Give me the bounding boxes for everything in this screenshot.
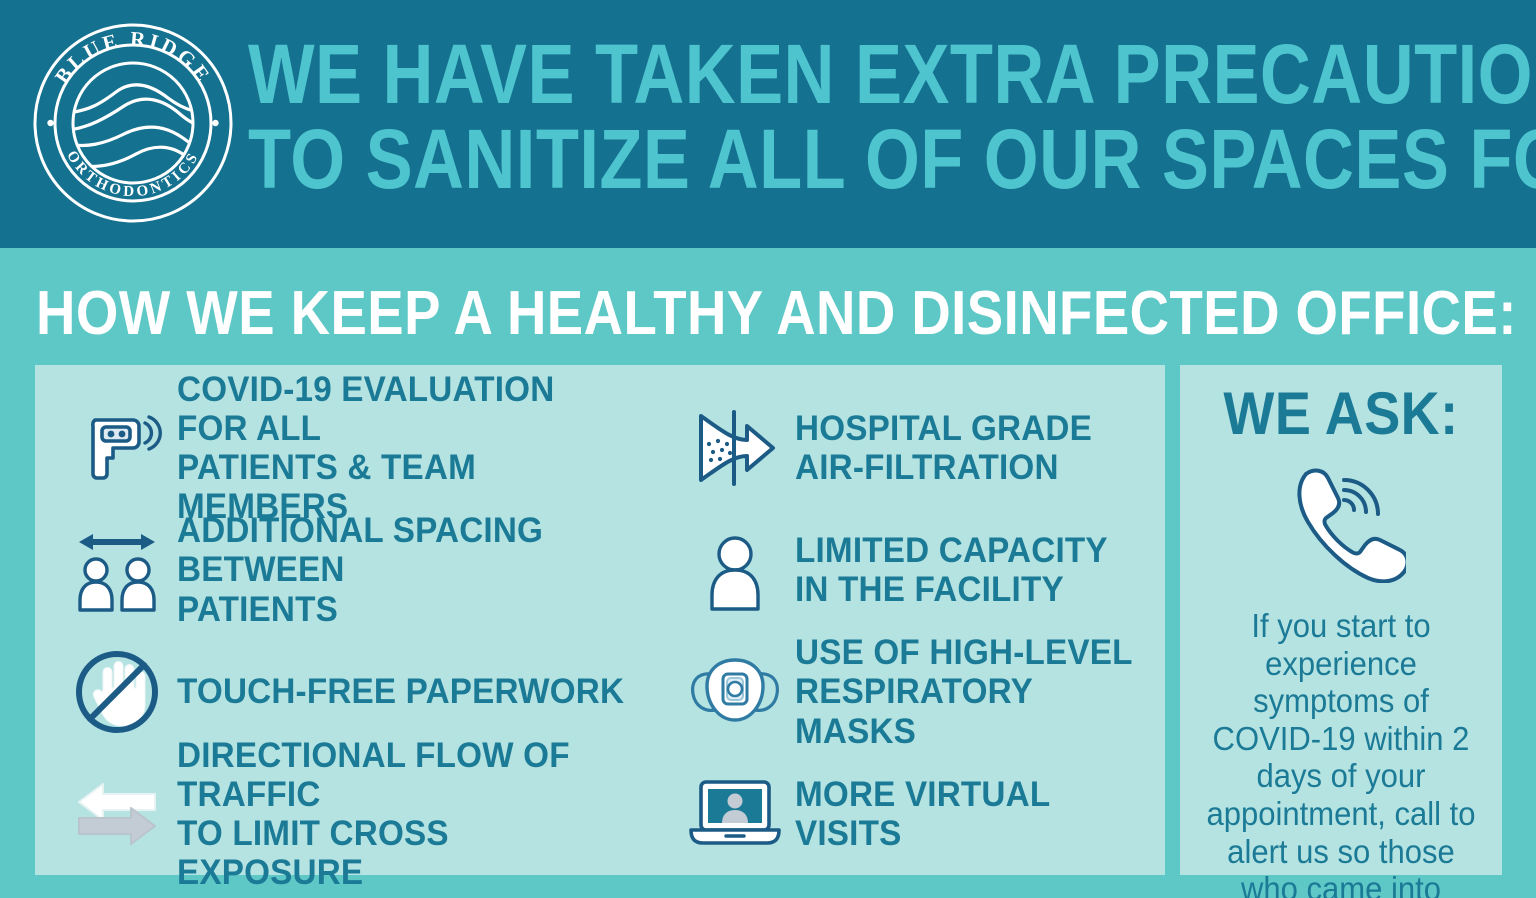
precautions-column-right: HOSPITAL GRADE AIR-FILTRATION LIMITED CA… — [675, 389, 1155, 877]
header-line-1: WE HAVE TAKEN EXTRA PRECAUTIONS — [248, 36, 1311, 113]
list-item: MORE VIRTUAL VISITS — [675, 755, 1155, 873]
header-line-2: TO SANITIZE ALL OF OUR SPACES FOR YOU. — [248, 121, 1311, 198]
section-title: HOW WE KEEP A HEALTHY AND DISINFECTED OF… — [36, 278, 1517, 349]
directional-arrows-icon — [57, 766, 177, 862]
list-item: HOSPITAL GRADE AIR-FILTRATION — [675, 389, 1155, 507]
respirator-mask-icon — [675, 646, 795, 738]
list-item-label: COVID-19 EVALUATION FOR ALL PATIENTS & T… — [177, 370, 633, 527]
list-item-label: TOUCH-FREE PAPERWORK — [177, 672, 624, 711]
list-item: USE OF HIGH-LEVEL RESPIRATORY MASKS — [675, 633, 1155, 751]
list-item: ADDITIONAL SPACING BETWEEN PATIENTS — [57, 511, 657, 629]
laptop-video-call-icon — [675, 768, 795, 860]
list-item: TOUCH-FREE PAPERWORK — [57, 633, 657, 751]
header-text-block: WE HAVE TAKEN EXTRA PRECAUTIONS TO SANIT… — [248, 36, 1513, 199]
brand-logo: BLUE RIDGE ORTHODONTICS — [28, 18, 238, 228]
list-item-label: HOSPITAL GRADE AIR-FILTRATION — [795, 409, 1092, 487]
social-distancing-icon — [57, 522, 177, 618]
precautions-card: COVID-19 EVALUATION FOR ALL PATIENTS & T… — [35, 365, 1165, 875]
we-ask-title: WE ASK: — [1196, 379, 1486, 448]
list-item-label: MORE VIRTUAL VISITS — [795, 775, 1137, 853]
list-item: DIRECTIONAL FLOW OF TRAFFIC TO LIMIT CRO… — [57, 755, 657, 873]
precautions-column-left: COVID-19 EVALUATION FOR ALL PATIENTS & T… — [57, 389, 657, 877]
blue-ridge-orthodontics-logo-icon: BLUE RIDGE ORTHODONTICS — [28, 18, 238, 228]
logo-top-text: BLUE RIDGE — [50, 27, 216, 89]
we-ask-body-text: If you start to experience symptoms of C… — [1190, 607, 1493, 898]
list-item-label: LIMITED CAPACITY IN THE FACILITY — [795, 531, 1108, 609]
list-item-label: USE OF HIGH-LEVEL RESPIRATORY MASKS — [795, 633, 1137, 751]
infographic-poster: BLUE RIDGE ORTHODONTICS WE HAVE TAKEN EX… — [0, 0, 1536, 898]
phone-ringing-icon — [1180, 458, 1502, 583]
list-item-label: ADDITIONAL SPACING BETWEEN PATIENTS — [177, 511, 633, 629]
header-banner: BLUE RIDGE ORTHODONTICS WE HAVE TAKEN EX… — [0, 0, 1536, 248]
we-ask-panel: WE ASK: If you start to experience sympt… — [1180, 365, 1502, 875]
air-filter-icon — [675, 400, 795, 496]
list-item: LIMITED CAPACITY IN THE FACILITY — [675, 511, 1155, 629]
single-person-icon — [675, 522, 795, 618]
list-item: COVID-19 EVALUATION FOR ALL PATIENTS & T… — [57, 389, 657, 507]
list-item-label: DIRECTIONAL FLOW OF TRAFFIC TO LIMIT CRO… — [177, 736, 633, 893]
no-touch-hand-icon — [57, 644, 177, 740]
thermometer-gun-icon — [57, 400, 177, 496]
